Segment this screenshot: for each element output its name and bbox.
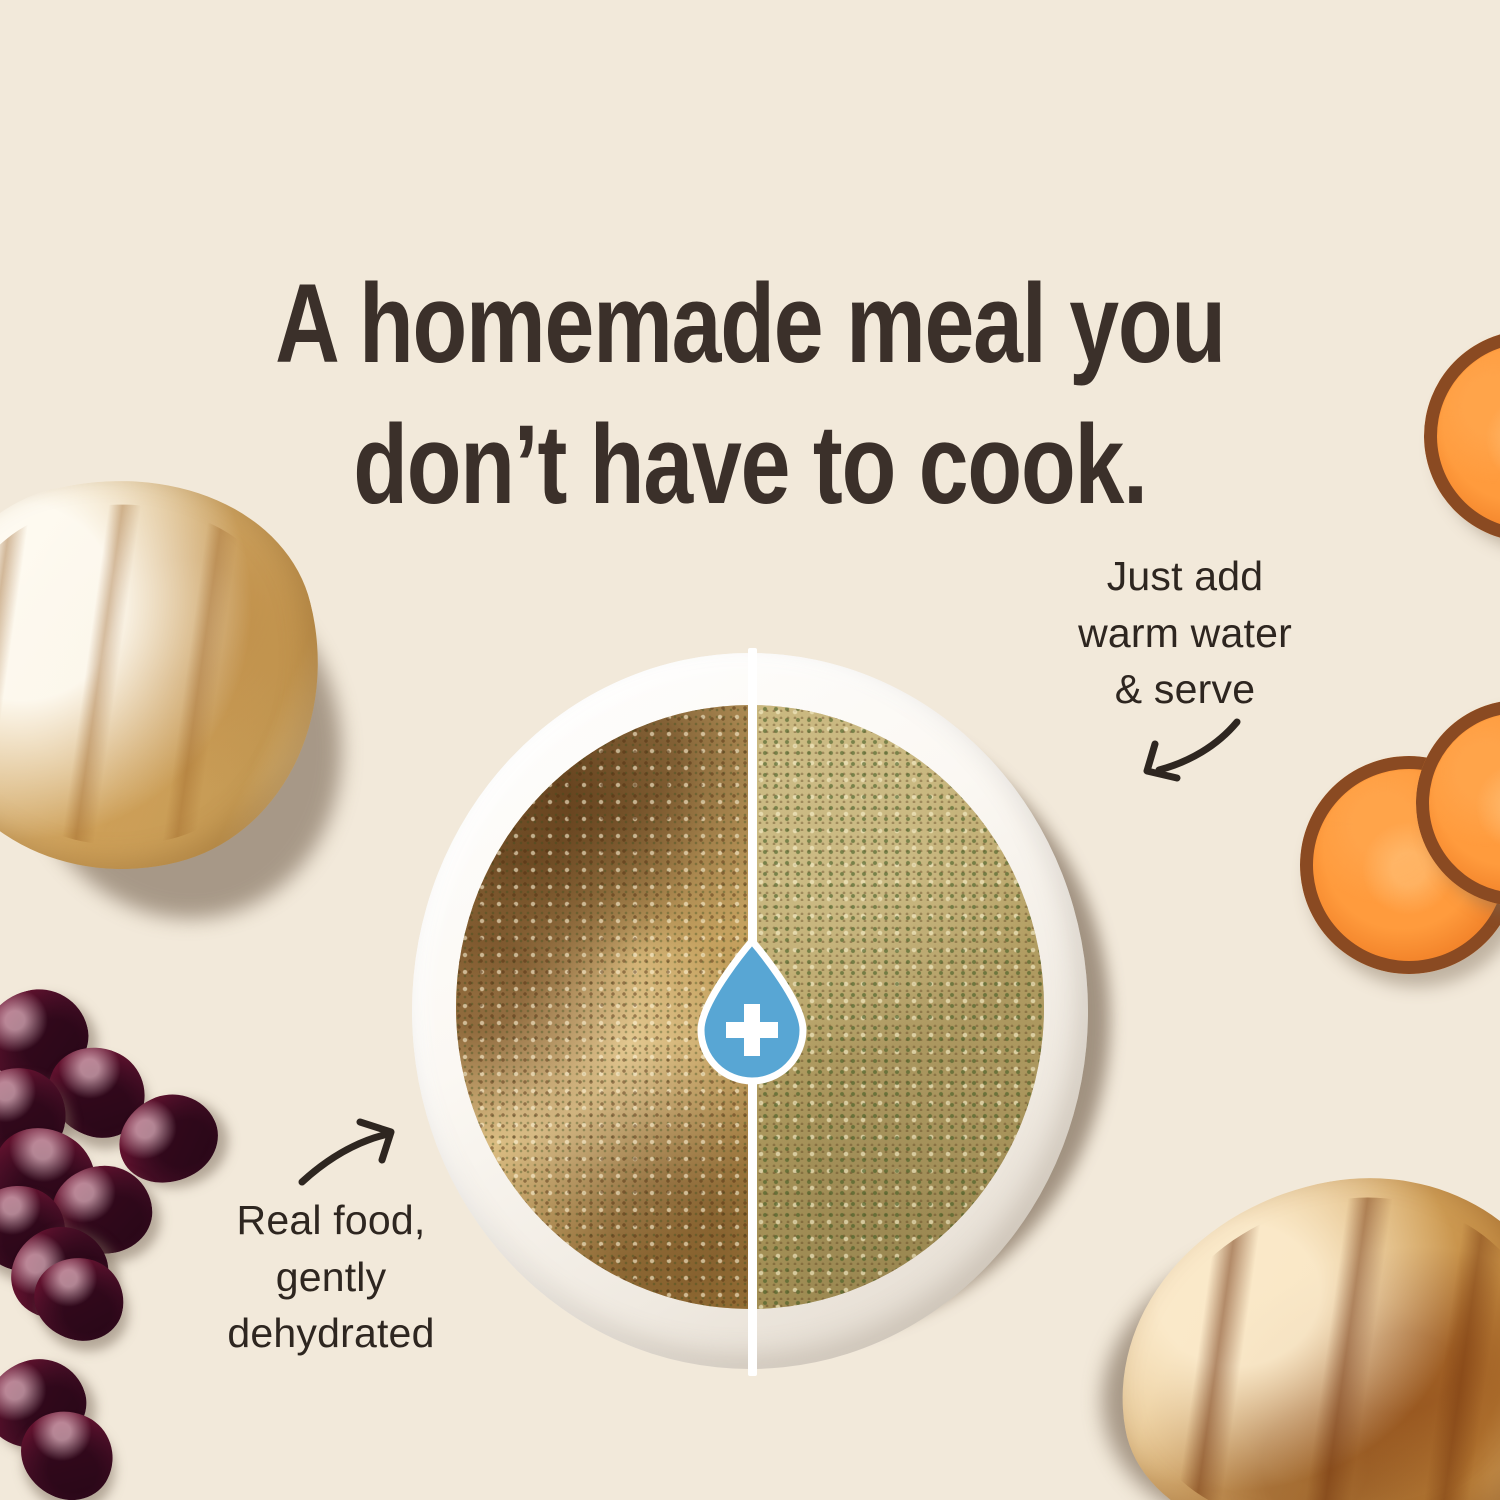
promo-image-canvas: A homemade meal you don’t have to cook. … bbox=[0, 0, 1500, 1500]
curved-arrow-down-left-icon bbox=[1085, 712, 1255, 807]
headline-line-2: don’t have to cook. bbox=[150, 394, 1350, 535]
annotation-just-add-water: Just add warm water & serve bbox=[1020, 548, 1350, 718]
water-drop-plus-icon bbox=[692, 938, 812, 1086]
annotation-right-line-3: & serve bbox=[1020, 661, 1350, 718]
annotation-left-line-3: dehydrated bbox=[166, 1305, 496, 1362]
annotation-real-food: Real food, gently dehydrated bbox=[166, 1192, 496, 1362]
roasted-chicken-breast bbox=[1089, 1146, 1500, 1500]
annotation-left-line-2: gently bbox=[166, 1249, 496, 1306]
annotation-right-line-2: warm water bbox=[1020, 605, 1350, 662]
annotation-left-line-1: Real food, bbox=[166, 1192, 496, 1249]
annotation-right-line-1: Just add bbox=[1020, 548, 1350, 605]
headline-line-1: A homemade meal you bbox=[150, 253, 1350, 394]
curved-arrow-up-right-icon bbox=[292, 1112, 412, 1194]
page-title: A homemade meal you don’t have to cook. bbox=[150, 253, 1350, 535]
sweet-potato-slice bbox=[1404, 310, 1500, 561]
